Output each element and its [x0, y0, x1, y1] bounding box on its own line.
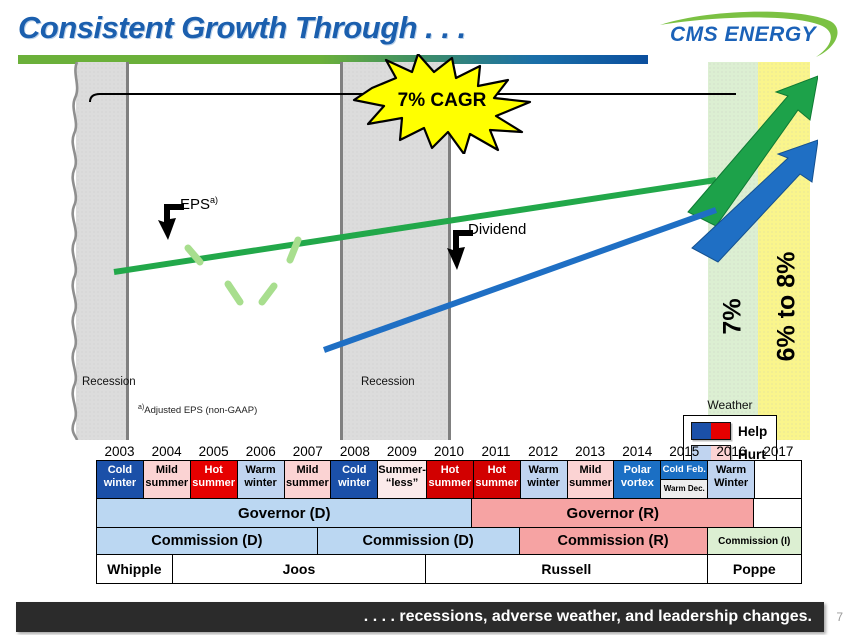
governor-cell-governor-r-1: Governor (R): [472, 499, 754, 527]
weather-cell-2003: Coldwinter: [97, 461, 144, 498]
year-header-2013: 2013: [567, 444, 614, 460]
table-commission-row: Commission (D)Commission (D)Commission (…: [96, 528, 802, 555]
weather-cell-top: Cold Feb.: [661, 461, 707, 479]
weather-cell-2010: Hotsummer: [427, 461, 474, 498]
timeline-table: 2003200420052006200720082009201020112012…: [96, 444, 802, 584]
year-header-2004: 2004: [143, 444, 190, 460]
weather-cell-2005: Hotsummer: [191, 461, 238, 498]
year-header-2012: 2012: [520, 444, 567, 460]
year-header-2005: 2005: [190, 444, 237, 460]
weather-line-2: winter: [238, 477, 284, 490]
logo-wordmark: CMS ENERGY: [670, 23, 816, 47]
chart-footnote: a)Adjusted EPS (non-GAAP): [138, 404, 257, 416]
ceo-cell-joos-1: Joos: [173, 555, 426, 583]
weather-line-2: summer: [568, 477, 614, 490]
weather-cell-2017: [755, 461, 801, 498]
weather-cell-2009: Summer-“less”: [378, 461, 427, 498]
weather-cell-2006: Warmwinter: [238, 461, 285, 498]
weather-line-1: Mild: [144, 464, 190, 477]
swatch-help-icon: [691, 422, 731, 440]
weather-line-2: summer: [285, 477, 331, 490]
weather-cell-2004: Mildsummer: [144, 461, 191, 498]
table-governor-row: Governor (D)Governor (R): [96, 499, 802, 528]
commission-cell-commission-r-2: Commission (R): [520, 528, 708, 554]
weather-legend-title: Weather: [683, 398, 777, 412]
year-header-2006: 2006: [237, 444, 284, 460]
footnote-text: Adjusted EPS (non-GAAP): [144, 405, 257, 416]
footer-bar: . . . . recessions, adverse weather, and…: [16, 602, 824, 632]
weather-line-2: summer: [191, 477, 237, 490]
ceo-cell-whipple-0: Whipple: [97, 555, 173, 583]
year-header-2010: 2010: [425, 444, 472, 460]
governor-cell-governor-d-0: Governor (D): [97, 499, 472, 527]
table-ceo-row: WhippleJoosRussellPoppe: [96, 555, 802, 584]
cagr-burst: 7% CAGR: [352, 54, 532, 154]
weather-line-2: summer: [474, 477, 520, 490]
weather-line-1: Hot: [427, 464, 473, 477]
year-header-2008: 2008: [331, 444, 378, 460]
legend-label-help: Help: [738, 424, 767, 439]
weather-line-2: winter: [521, 477, 567, 490]
weather-line-1: Mild: [285, 464, 331, 477]
weather-line-1: Warm: [521, 464, 567, 477]
year-header-2003: 2003: [96, 444, 143, 460]
weather-line-2: summer: [144, 477, 190, 490]
weather-line-1: Summer-: [378, 464, 426, 477]
weather-line-1: Polar: [614, 464, 660, 477]
ceo-cell-russell-2: Russell: [426, 555, 707, 583]
year-header-2014: 2014: [614, 444, 661, 460]
weather-line-2: “less”: [378, 477, 426, 490]
weather-line-1: Cold: [331, 464, 377, 477]
cms-energy-logo: CMS ENERGY: [648, 5, 843, 65]
commission-cell-commission-d-1: Commission (D): [318, 528, 520, 554]
weather-line-1: Hot: [474, 464, 520, 477]
weather-line-1: Cold: [97, 464, 143, 477]
eps-label: EPSa): [180, 195, 218, 213]
table-year-header-row: 2003200420052006200720082009201020112012…: [96, 444, 802, 460]
weather-cell-2012: Warmwinter: [521, 461, 568, 498]
year-header-2015: 2015: [661, 444, 708, 460]
commission-cell-commission-d-0: Commission (D): [97, 528, 318, 554]
weather-line-2: winter: [97, 477, 143, 490]
cagr-burst-text: 7% CAGR: [352, 90, 532, 112]
weather-line-2: winter: [331, 477, 377, 490]
weather-cell-2013: Mildsummer: [568, 461, 615, 498]
weather-cell-2016: WarmWinter: [708, 461, 755, 498]
footer-caption: . . . . recessions, adverse weather, and…: [364, 608, 824, 626]
weather-line-1: Warm: [238, 464, 284, 477]
weather-cell-2007: Mildsummer: [285, 461, 332, 498]
ceo-cell-poppe-3: Poppe: [708, 555, 801, 583]
weather-line-1: Mild: [568, 464, 614, 477]
legend-row-help: Help: [691, 422, 770, 440]
table-weather-row: ColdwinterMildsummerHotsummerWarmwinterM…: [96, 460, 802, 499]
eps-label-text: EPS: [180, 196, 210, 213]
dividend-label: Dividend: [468, 221, 526, 238]
year-header-2011: 2011: [473, 444, 520, 460]
eps-footnote-marker: a): [210, 195, 218, 205]
year-header-2016: 2016: [708, 444, 755, 460]
year-header-2007: 2007: [284, 444, 331, 460]
year-header-2009: 2009: [378, 444, 425, 460]
weather-line-1: Hot: [191, 464, 237, 477]
weather-cell-2008: Coldwinter: [331, 461, 378, 498]
page-number: 7: [836, 610, 843, 624]
commission-cell-commission-i-3: Commission (I): [708, 528, 801, 554]
weather-cell-2014: Polarvortex: [614, 461, 661, 498]
weather-cell-bottom: Warm Dec.: [661, 479, 707, 498]
weather-line-2: vortex: [614, 477, 660, 490]
weather-line-1: Warm: [708, 464, 754, 477]
slide-root: Consistent Growth Through . . . CMS ENER…: [0, 0, 847, 635]
page-title: Consistent Growth Through . . .: [18, 10, 466, 46]
weather-line-2: Winter: [708, 477, 754, 490]
weather-line-2: summer: [427, 477, 473, 490]
year-header-2017: 2017: [755, 444, 802, 460]
weather-cell-2011: Hotsummer: [474, 461, 521, 498]
weather-cell-2015: Cold Feb.Warm Dec.: [661, 461, 708, 498]
governor-cell-empty-2: [754, 499, 801, 527]
